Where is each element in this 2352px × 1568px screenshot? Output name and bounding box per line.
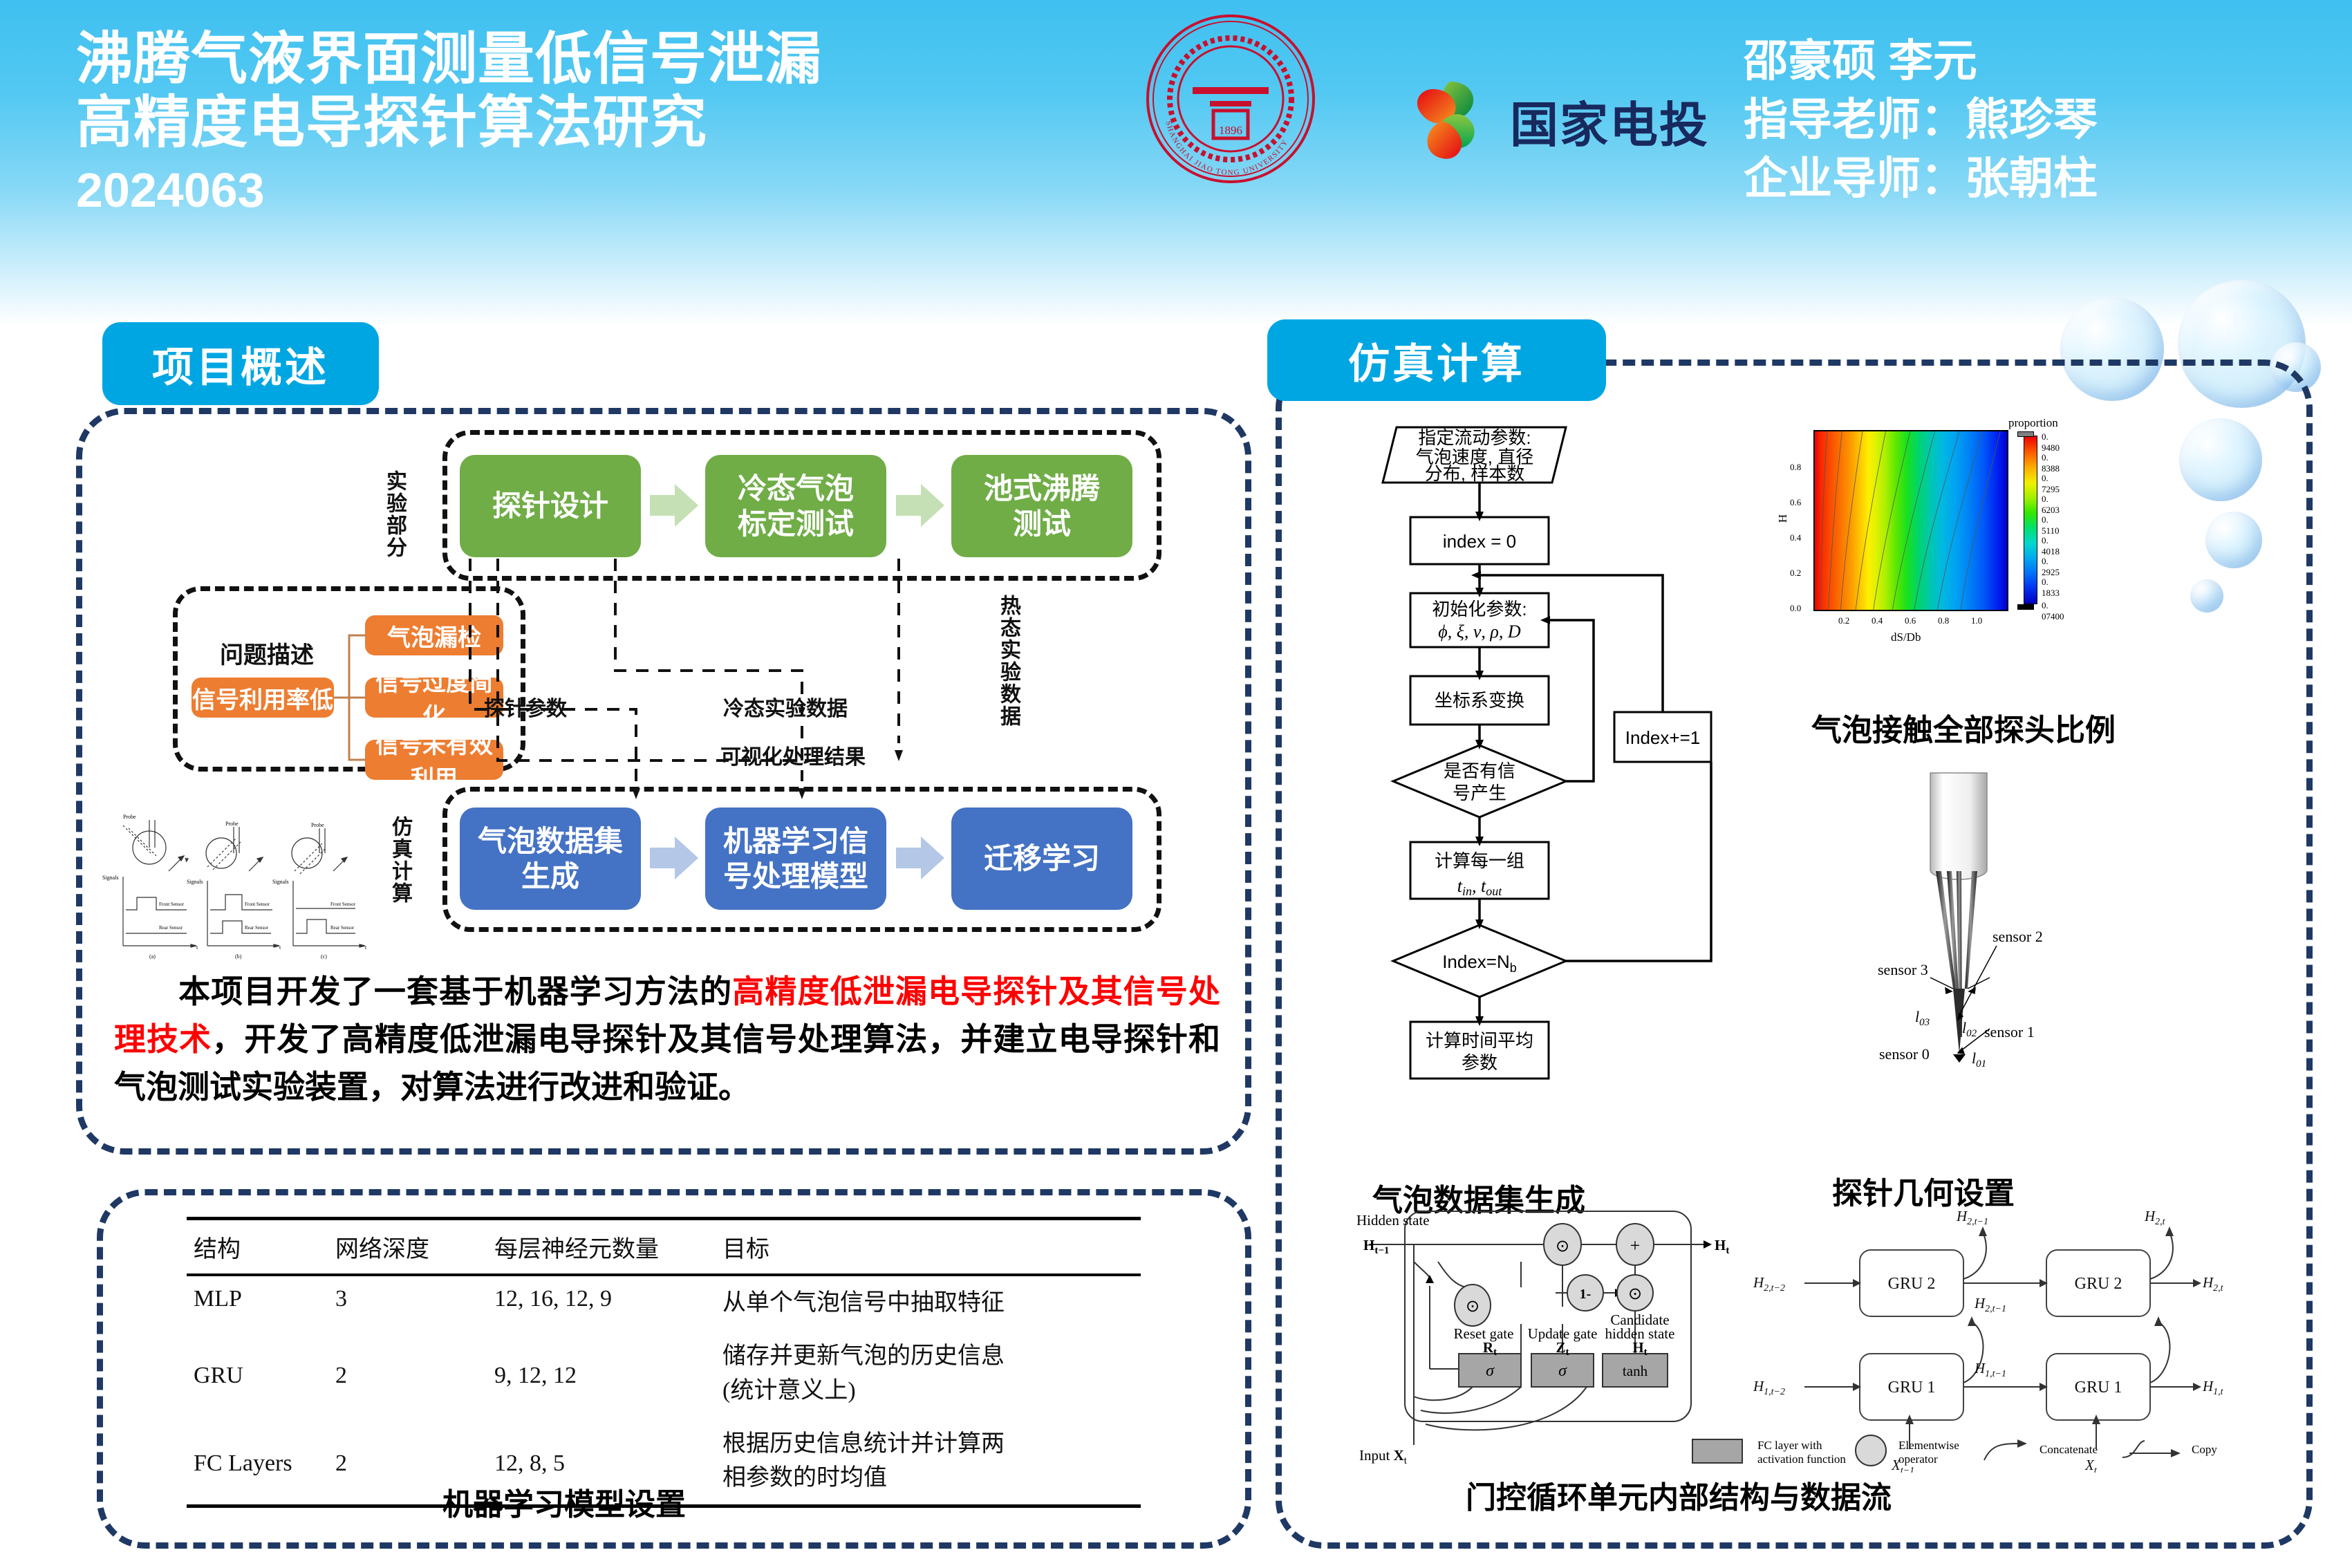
project-code: 2024063	[76, 159, 1155, 222]
ml-table-panel	[97, 1189, 1251, 1549]
spic-logo-text: 国家电投	[1510, 86, 1709, 156]
section-tag-overview: 项目概述	[102, 322, 379, 405]
title-block: 沸腾气液界面测量低信号泄漏 高精度电导探针算法研究 2024063	[76, 28, 1155, 222]
poster-title-line-1: 沸腾气液界面测量低信号泄漏	[76, 28, 1155, 91]
author-block: 邵豪硕 李元 指导老师：熊珍琴 企业导师：张朝柱	[1744, 32, 2304, 208]
enterprise-mentor-name: 企业导师：张朝柱	[1744, 149, 2304, 208]
overview-connectors-icon	[304, 553, 1175, 823]
section-tag-simulation: 仿真计算	[1267, 319, 1606, 401]
poster-header: 沸腾气液界面测量低信号泄漏 高精度电导探针算法研究 2024063 1896 S…	[0, 0, 2352, 325]
advisor-name: 指导老师：熊珍琴	[1744, 91, 2304, 149]
author-names: 邵豪硕 李元	[1744, 32, 2304, 91]
simulation-panel	[1276, 360, 2313, 1549]
sjtu-year-text: 1896	[1219, 124, 1242, 137]
spic-mark-icon	[1397, 76, 1500, 166]
spic-logo: 国家电投	[1397, 76, 1763, 166]
poster-title-line-2: 高精度电导探针算法研究	[76, 91, 1155, 155]
sjtu-logo: 1896 SHANGHAI JIAO TONG UNIVERSITY	[1144, 12, 1317, 185]
